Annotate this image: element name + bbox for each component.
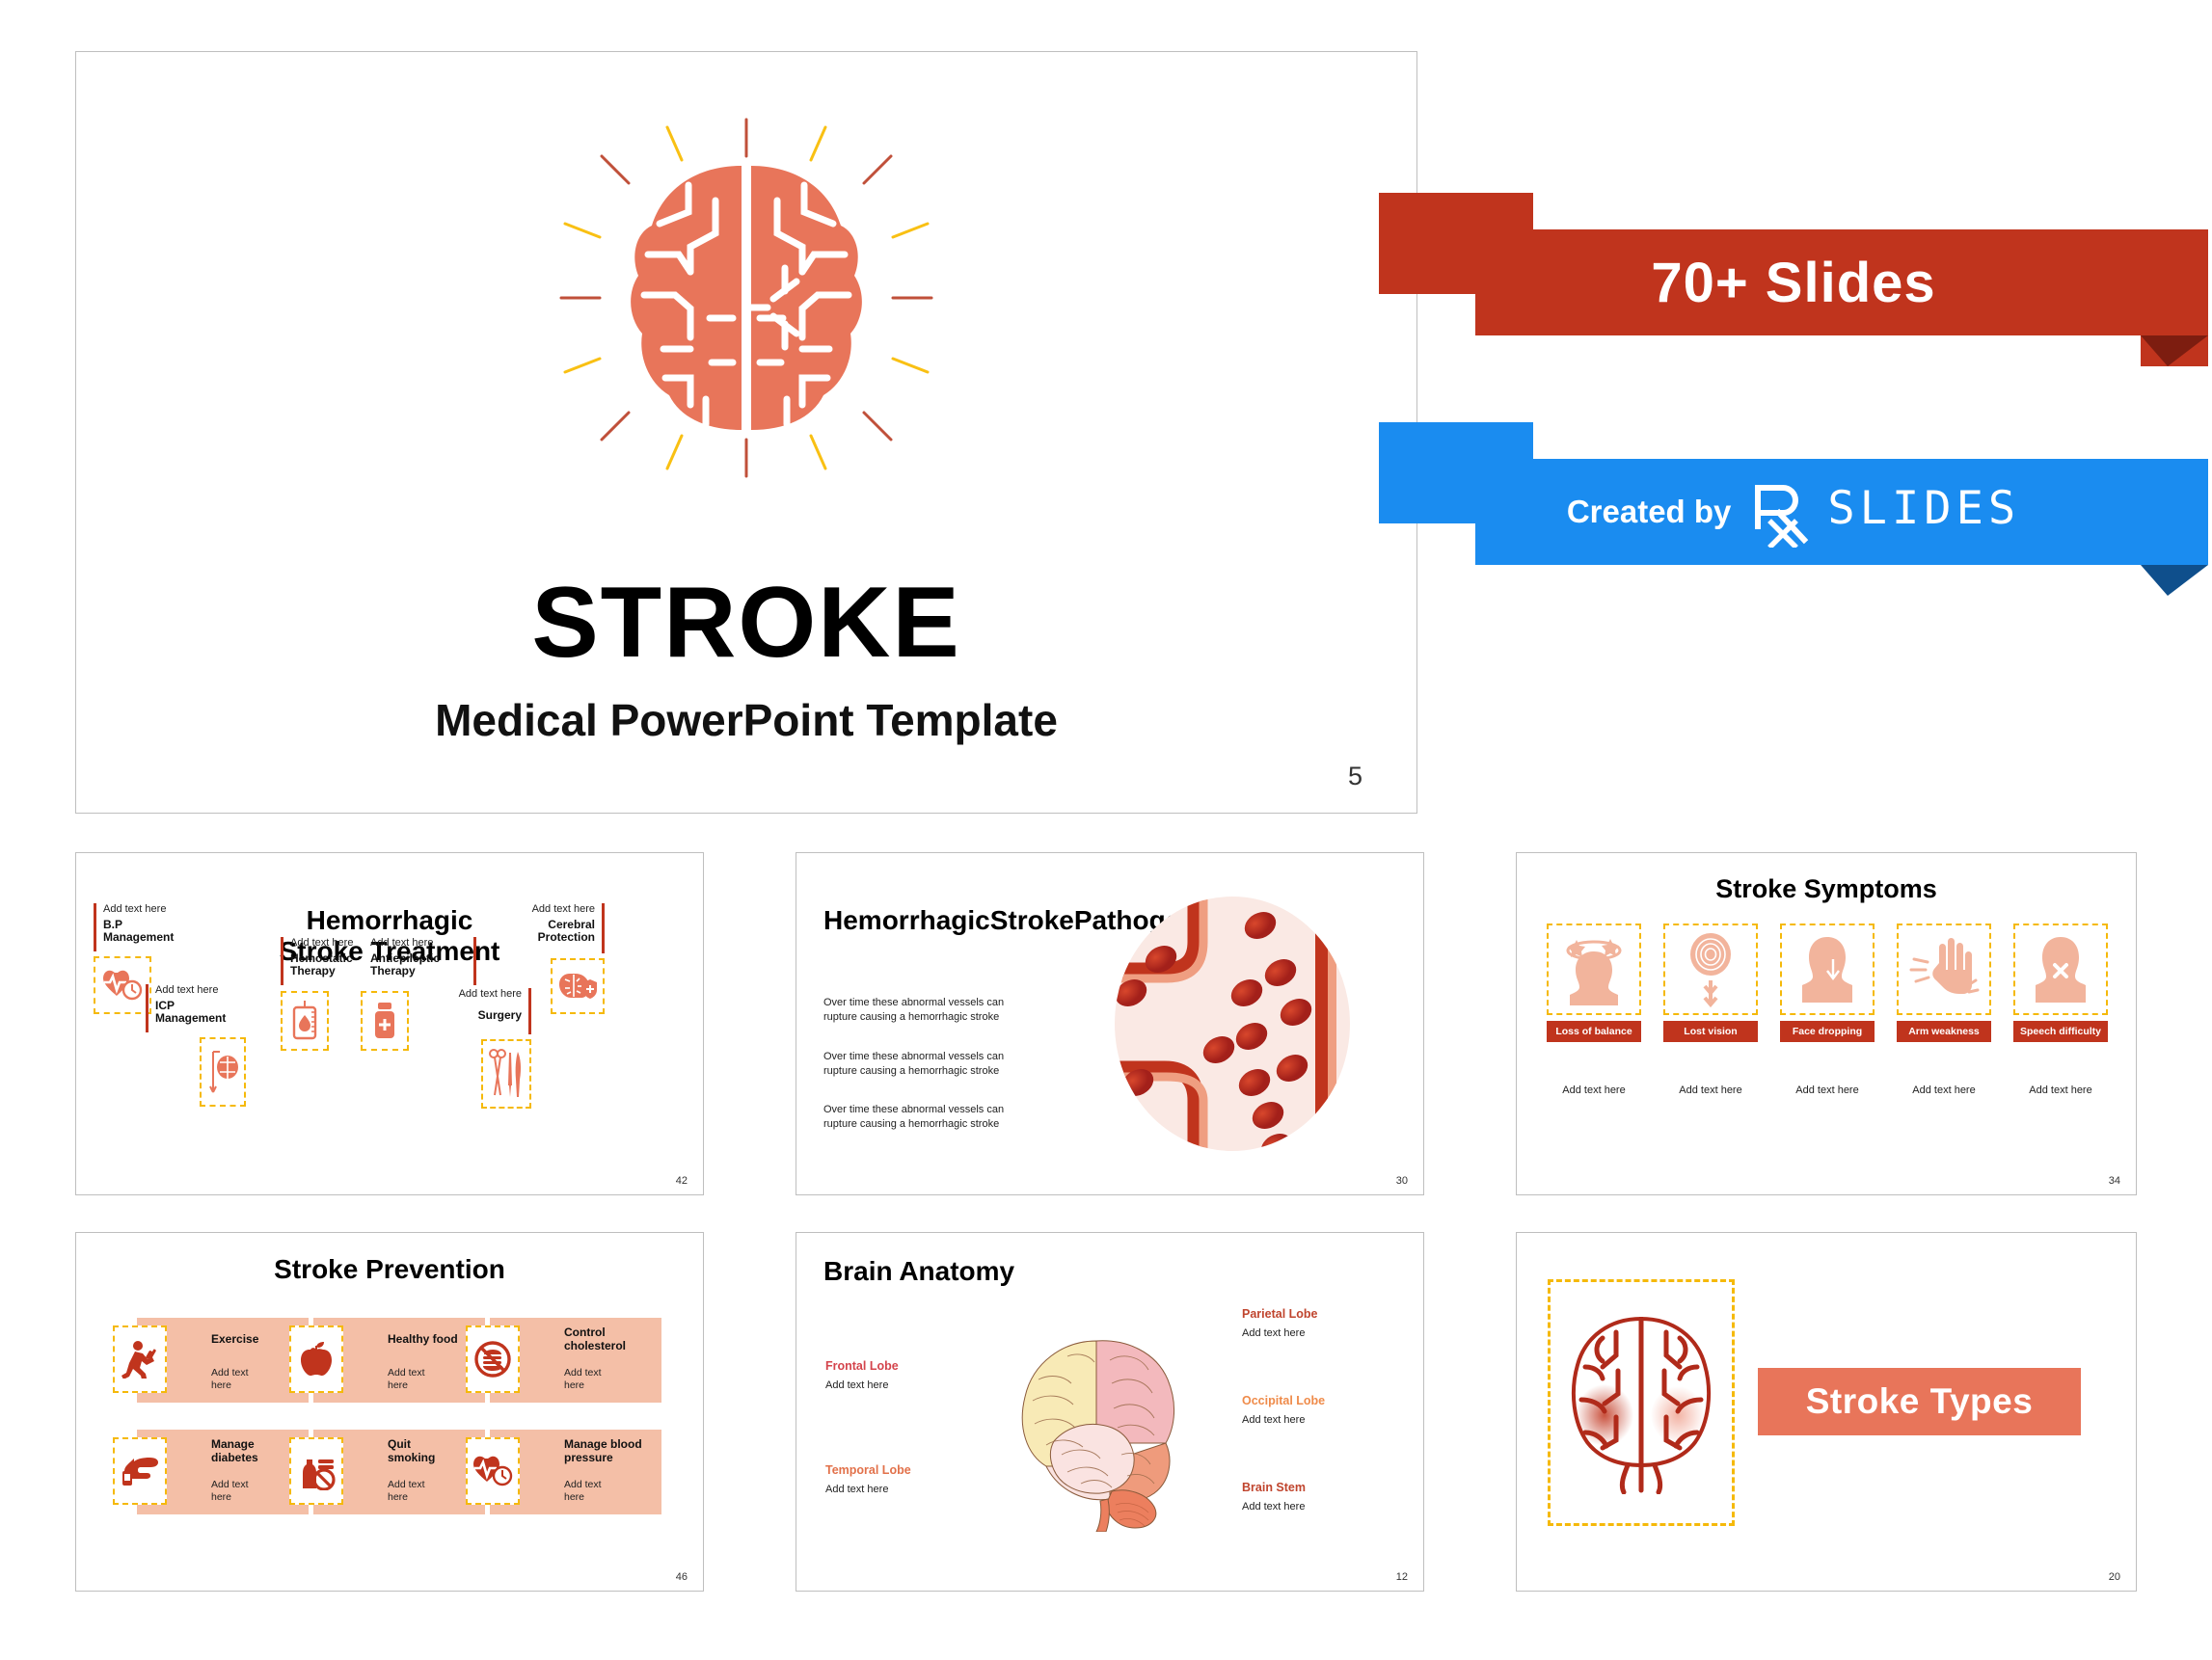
slides-count-label: 70+ Slides bbox=[1379, 229, 2208, 335]
iv-blood-bag-icon bbox=[281, 991, 329, 1051]
created-by-group: Created by SLIDES bbox=[1379, 459, 2208, 565]
add-text-label: Add texthere bbox=[388, 1479, 425, 1503]
brain-lateral-lobes-icon bbox=[1004, 1320, 1206, 1532]
paragraph: Over time these abnormal vessels can rup… bbox=[823, 1103, 1036, 1132]
add-text-label: Add text here bbox=[1663, 1084, 1758, 1096]
symptom-lost-vision[interactable]: Lost vision Add text here bbox=[1663, 924, 1758, 1096]
dizzy-head-stars-icon bbox=[1547, 924, 1641, 1015]
blood-vessels-red-cells-icon bbox=[1107, 894, 1358, 1154]
symptom-label: Loss of balance bbox=[1547, 1021, 1641, 1042]
treatment-name: ICPManagement bbox=[155, 1000, 226, 1026]
apple-icon bbox=[289, 1325, 343, 1393]
slide-number: 20 bbox=[2109, 1571, 2120, 1583]
banner-label: Stroke Types bbox=[1806, 1381, 2034, 1422]
brain-shield-icon bbox=[551, 958, 605, 1014]
add-text-label: Add text here bbox=[532, 903, 595, 915]
add-text-label: Add text here bbox=[1897, 1084, 1991, 1096]
symptom-arm-weakness[interactable]: Arm weakness Add text here bbox=[1897, 924, 1991, 1096]
slide-number: 5 bbox=[1348, 762, 1362, 791]
medicine-bottle-icon bbox=[361, 991, 409, 1051]
add-text-label: Add text here bbox=[2013, 1084, 2108, 1096]
add-text-label: Add text here bbox=[155, 984, 218, 996]
prevention-title: Healthy food bbox=[388, 1333, 458, 1347]
symptom-speech-difficulty[interactable]: Speech difficulty Add text here bbox=[2013, 924, 2108, 1096]
treatment-name: HemostaticTherapy bbox=[290, 952, 353, 978]
add-text-label: Add text here bbox=[290, 937, 353, 949]
running-person-dumbbell-icon bbox=[113, 1325, 167, 1393]
slide-stroke-symptoms[interactable]: Stroke Symptoms Loss of balance Add text… bbox=[1516, 852, 2137, 1195]
slide-stroke-types[interactable]: Stroke Types 20 bbox=[1516, 1232, 2137, 1592]
add-text-label: Add text here bbox=[825, 1379, 899, 1391]
pathogenesis-paragraphs: Over time these abnormal vessels can rup… bbox=[823, 996, 1036, 1157]
slide-number: 42 bbox=[676, 1175, 688, 1187]
slide-title: Stroke Prevention bbox=[76, 1254, 703, 1285]
slide-number: 12 bbox=[1396, 1571, 1408, 1583]
prevention-title: Managediabetes bbox=[211, 1438, 258, 1465]
slide-title: Brain Anatomy bbox=[823, 1256, 1014, 1287]
prevention-title: Controlcholesterol bbox=[564, 1326, 626, 1353]
add-text-label: Add text here bbox=[825, 1484, 911, 1495]
slides-count-ribbon: 70+ Slides bbox=[1379, 193, 2208, 366]
add-text-label: Add texthere bbox=[211, 1367, 249, 1391]
add-text-label: Add texthere bbox=[211, 1479, 249, 1503]
add-text-label: Add text here bbox=[459, 988, 522, 1000]
treatment-name: AntiepilepticTherapy bbox=[370, 952, 440, 978]
brain-top-view-icon bbox=[544, 110, 949, 486]
anatomy-label-frontal-lobe: Frontal Lobe Add text here bbox=[825, 1360, 899, 1391]
heart-bp-monitor-icon bbox=[466, 1437, 520, 1505]
add-text-label: Add text here bbox=[103, 903, 166, 915]
slide-number: 30 bbox=[1396, 1175, 1408, 1187]
slide-number: 46 bbox=[676, 1571, 688, 1583]
treatment-name: Surgery bbox=[478, 1009, 522, 1022]
head-mouth-cross-icon bbox=[2013, 924, 2108, 1015]
surgical-instruments-icon bbox=[481, 1039, 531, 1109]
add-text-label: Add texthere bbox=[388, 1367, 425, 1391]
slide-hemorrhagic-stroke-treatment[interactable]: Hemorrhagic Stroke Treatment Add text he… bbox=[75, 852, 704, 1195]
anatomy-label-parietal-lobe: Parietal Lobe Add text here bbox=[1242, 1308, 1318, 1339]
add-text-label: Add text here bbox=[370, 937, 433, 949]
add-text-label: Add text here bbox=[1780, 1084, 1875, 1096]
symptom-label: Arm weakness bbox=[1897, 1021, 1991, 1042]
paragraph: Over time these abnormal vessels can rup… bbox=[823, 1050, 1036, 1079]
slide-stroke-prevention[interactable]: Stroke Prevention Exercise Add texthere … bbox=[75, 1232, 704, 1592]
anatomy-label-temporal-lobe: Temporal Lobe Add text here bbox=[825, 1464, 911, 1495]
glucose-finger-test-icon bbox=[113, 1437, 167, 1505]
heart-pulse-monitor-icon bbox=[94, 956, 151, 1014]
no-smoking-alcohol-icon bbox=[289, 1437, 343, 1505]
slide-number: 34 bbox=[2109, 1175, 2120, 1187]
add-text-label: Add text here bbox=[1242, 1414, 1325, 1426]
add-text-label: Add text here bbox=[1242, 1327, 1318, 1339]
created-by-text: Created by bbox=[1567, 494, 1732, 530]
anatomy-label-occipital-lobe: Occipital Lobe Add text here bbox=[1242, 1395, 1325, 1426]
symptom-label: Face dropping bbox=[1780, 1021, 1875, 1042]
add-text-label: Add text here bbox=[1242, 1501, 1306, 1513]
add-text-label: Add texthere bbox=[564, 1479, 602, 1503]
slide-title: Stroke Symptoms bbox=[1517, 874, 2136, 904]
add-text-label: Add texthere bbox=[564, 1367, 602, 1391]
rxslides-brand-name: SLIDES bbox=[1827, 482, 2020, 535]
created-by-ribbon: Created by SLIDES bbox=[1379, 422, 2208, 596]
no-fatty-food-icon bbox=[466, 1325, 520, 1393]
symptom-face-dropping[interactable]: Face dropping Add text here bbox=[1780, 924, 1875, 1096]
brain-pressure-gauge-icon bbox=[200, 1037, 246, 1107]
hero-slide[interactable]: STROKE Medical PowerPoint Template 5 bbox=[75, 51, 1417, 814]
treatment-name: CerebralProtection bbox=[538, 919, 595, 945]
symptom-label: Speech difficulty bbox=[2013, 1021, 2108, 1042]
prevention-title: Exercise bbox=[211, 1333, 258, 1347]
brain-front-lesion-icon bbox=[1548, 1279, 1735, 1526]
eye-blur-down-arrow-icon bbox=[1663, 924, 1758, 1015]
symptom-loss-of-balance[interactable]: Loss of balance Add text here bbox=[1547, 924, 1641, 1096]
slide-brain-anatomy[interactable]: Brain Anatomy bbox=[796, 1232, 1424, 1592]
paragraph: Over time these abnormal vessels can rup… bbox=[823, 996, 1036, 1025]
add-text-label: Add text here bbox=[1547, 1084, 1641, 1096]
page-subtitle: Medical PowerPoint Template bbox=[76, 698, 1416, 742]
prevention-title: Quitsmoking bbox=[388, 1438, 435, 1465]
rx-logo-icon bbox=[1750, 480, 1814, 552]
prevention-title: Manage bloodpressure bbox=[564, 1438, 642, 1465]
symptom-label: Lost vision bbox=[1663, 1021, 1758, 1042]
face-drooping-arrow-icon bbox=[1780, 924, 1875, 1015]
page-title: STROKE bbox=[76, 573, 1416, 673]
weak-hand-icon bbox=[1897, 924, 1991, 1015]
stroke-types-banner: Stroke Types bbox=[1758, 1368, 2081, 1435]
anatomy-label-brain-stem: Brain Stem Add text here bbox=[1242, 1482, 1306, 1513]
treatment-name: B.PManagement bbox=[103, 919, 174, 945]
slide-hemorrhagic-stroke-pathogenesis[interactable]: HemorrhagicStrokePathogenesis Over time … bbox=[796, 852, 1424, 1195]
